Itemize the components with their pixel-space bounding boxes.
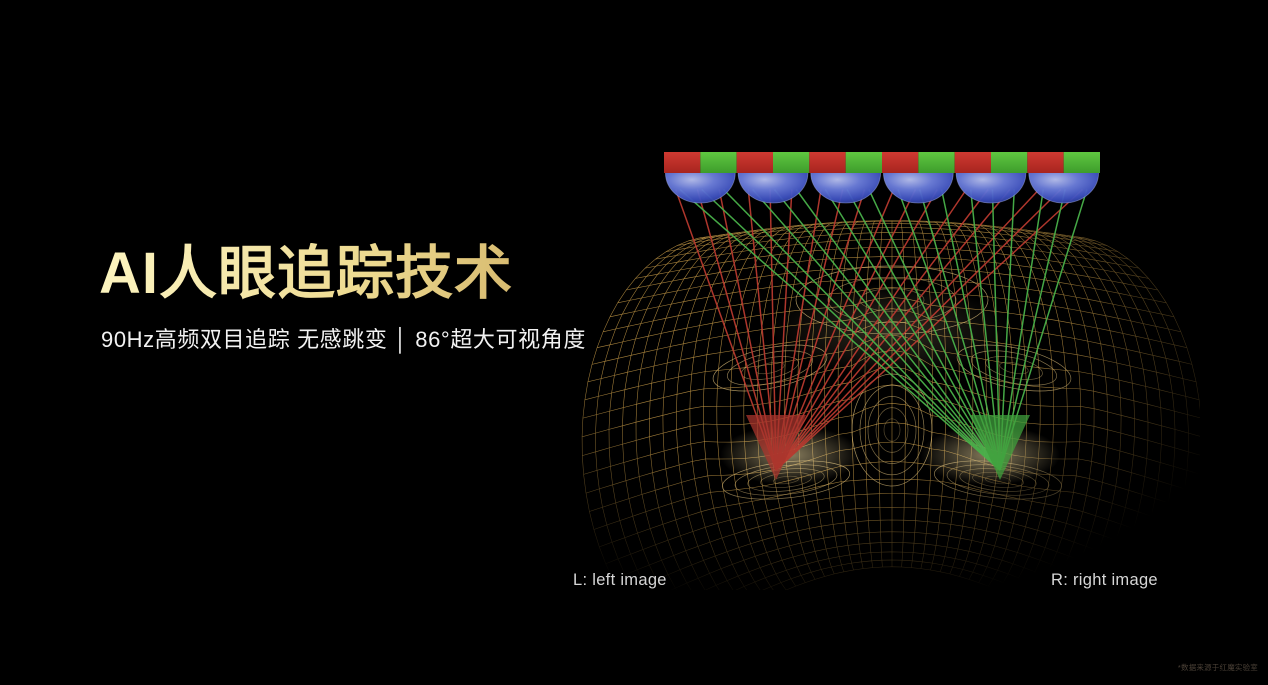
page-subtitle: 90Hz高频双目追踪 无感跳变 │ 86°超大可视角度 — [101, 322, 659, 354]
mesh-longitude — [900, 221, 905, 567]
caption-right-image: R: right image — [1051, 571, 1158, 590]
lens-strip-green — [918, 152, 954, 173]
mesh-longitude — [879, 221, 884, 567]
lens-strip-green — [846, 152, 882, 173]
lens-strip-red — [1027, 152, 1063, 173]
lens-strip-red — [955, 152, 991, 173]
lens-strip-red — [664, 152, 700, 173]
text-block: AI人眼追踪技术 90Hz高频双目追踪 无感跳变 │ 86°超大可视角度 — [99, 243, 659, 354]
mesh-longitude — [1084, 238, 1202, 653]
mesh-longitude — [976, 225, 1027, 587]
mesh-left-brow — [755, 360, 785, 376]
lens-strip-red — [809, 152, 845, 173]
slide-canvas: AI人眼追踪技术 90Hz高频双目追踪 无感跳变 │ 86°超大可视角度 L: … — [0, 0, 1268, 685]
lens-strip-red — [882, 152, 918, 173]
mesh-longitude — [984, 225, 1040, 590]
lenticular-lens — [811, 173, 881, 203]
mesh-latitude — [671, 567, 1114, 653]
lens-strip-green — [773, 152, 809, 173]
footnote-disclaimer: *数据来源于红魔实验室 — [1178, 662, 1258, 673]
lens-strip-green — [991, 152, 1027, 173]
lenticular-lens — [665, 173, 735, 203]
lenticular-lens — [1029, 173, 1099, 203]
lens-strip-green — [700, 152, 736, 173]
lens-strip-green — [1064, 152, 1100, 173]
mesh-longitude — [967, 224, 1013, 583]
lens-strip-red — [737, 152, 773, 173]
page-title: AI人眼追踪技术 — [99, 243, 659, 306]
caption-left-image: L: left image — [573, 571, 667, 590]
lenticular-lens — [956, 173, 1026, 203]
